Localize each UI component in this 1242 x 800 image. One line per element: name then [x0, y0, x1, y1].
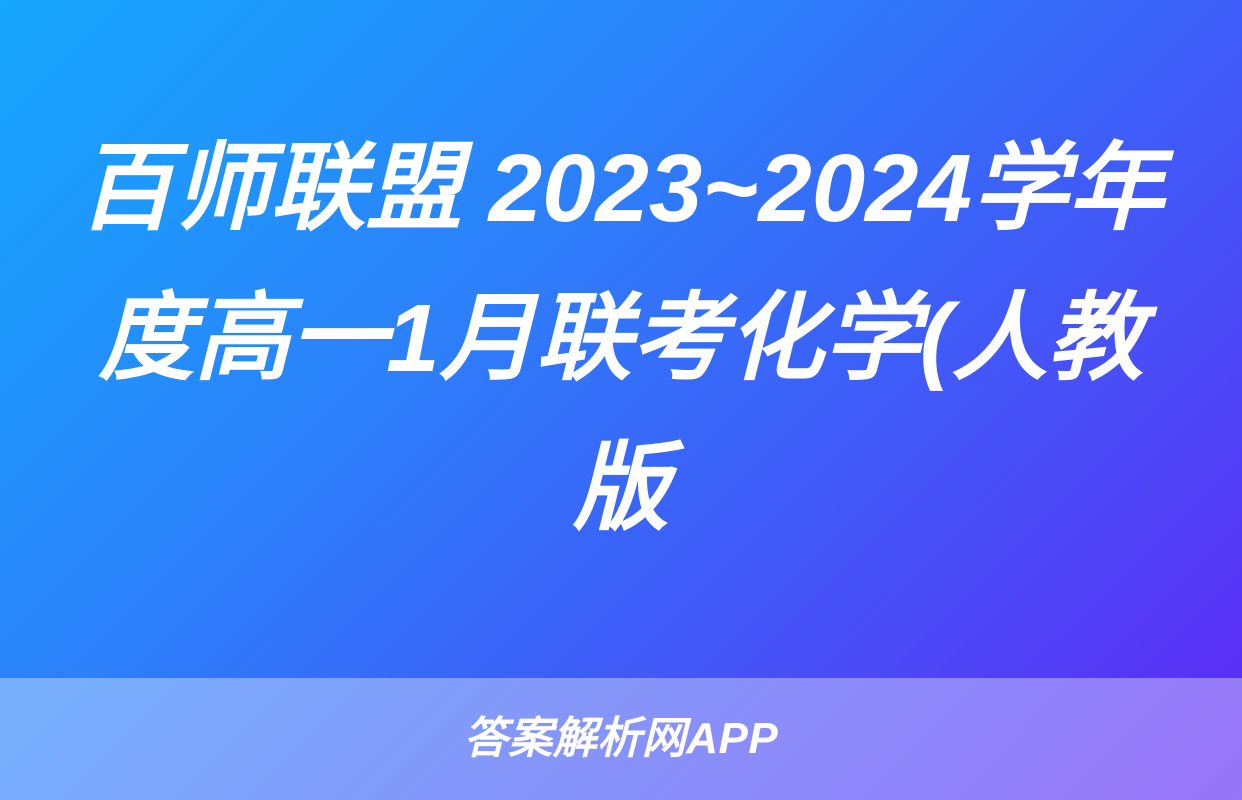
poster-container: 百师联盟 2023~2024学年度高一1月联考化学(人教版 答案解析网APP — [0, 0, 1242, 800]
watermark-band: 答案解析网APP — [0, 678, 1242, 800]
page-title: 百师联盟 2023~2024学年度高一1月联考化学(人教版 — [78, 114, 1164, 564]
title-block: 百师联盟 2023~2024学年度高一1月联考化学(人教版 — [0, 0, 1242, 678]
watermark-label: 答案解析网APP — [464, 717, 778, 761]
